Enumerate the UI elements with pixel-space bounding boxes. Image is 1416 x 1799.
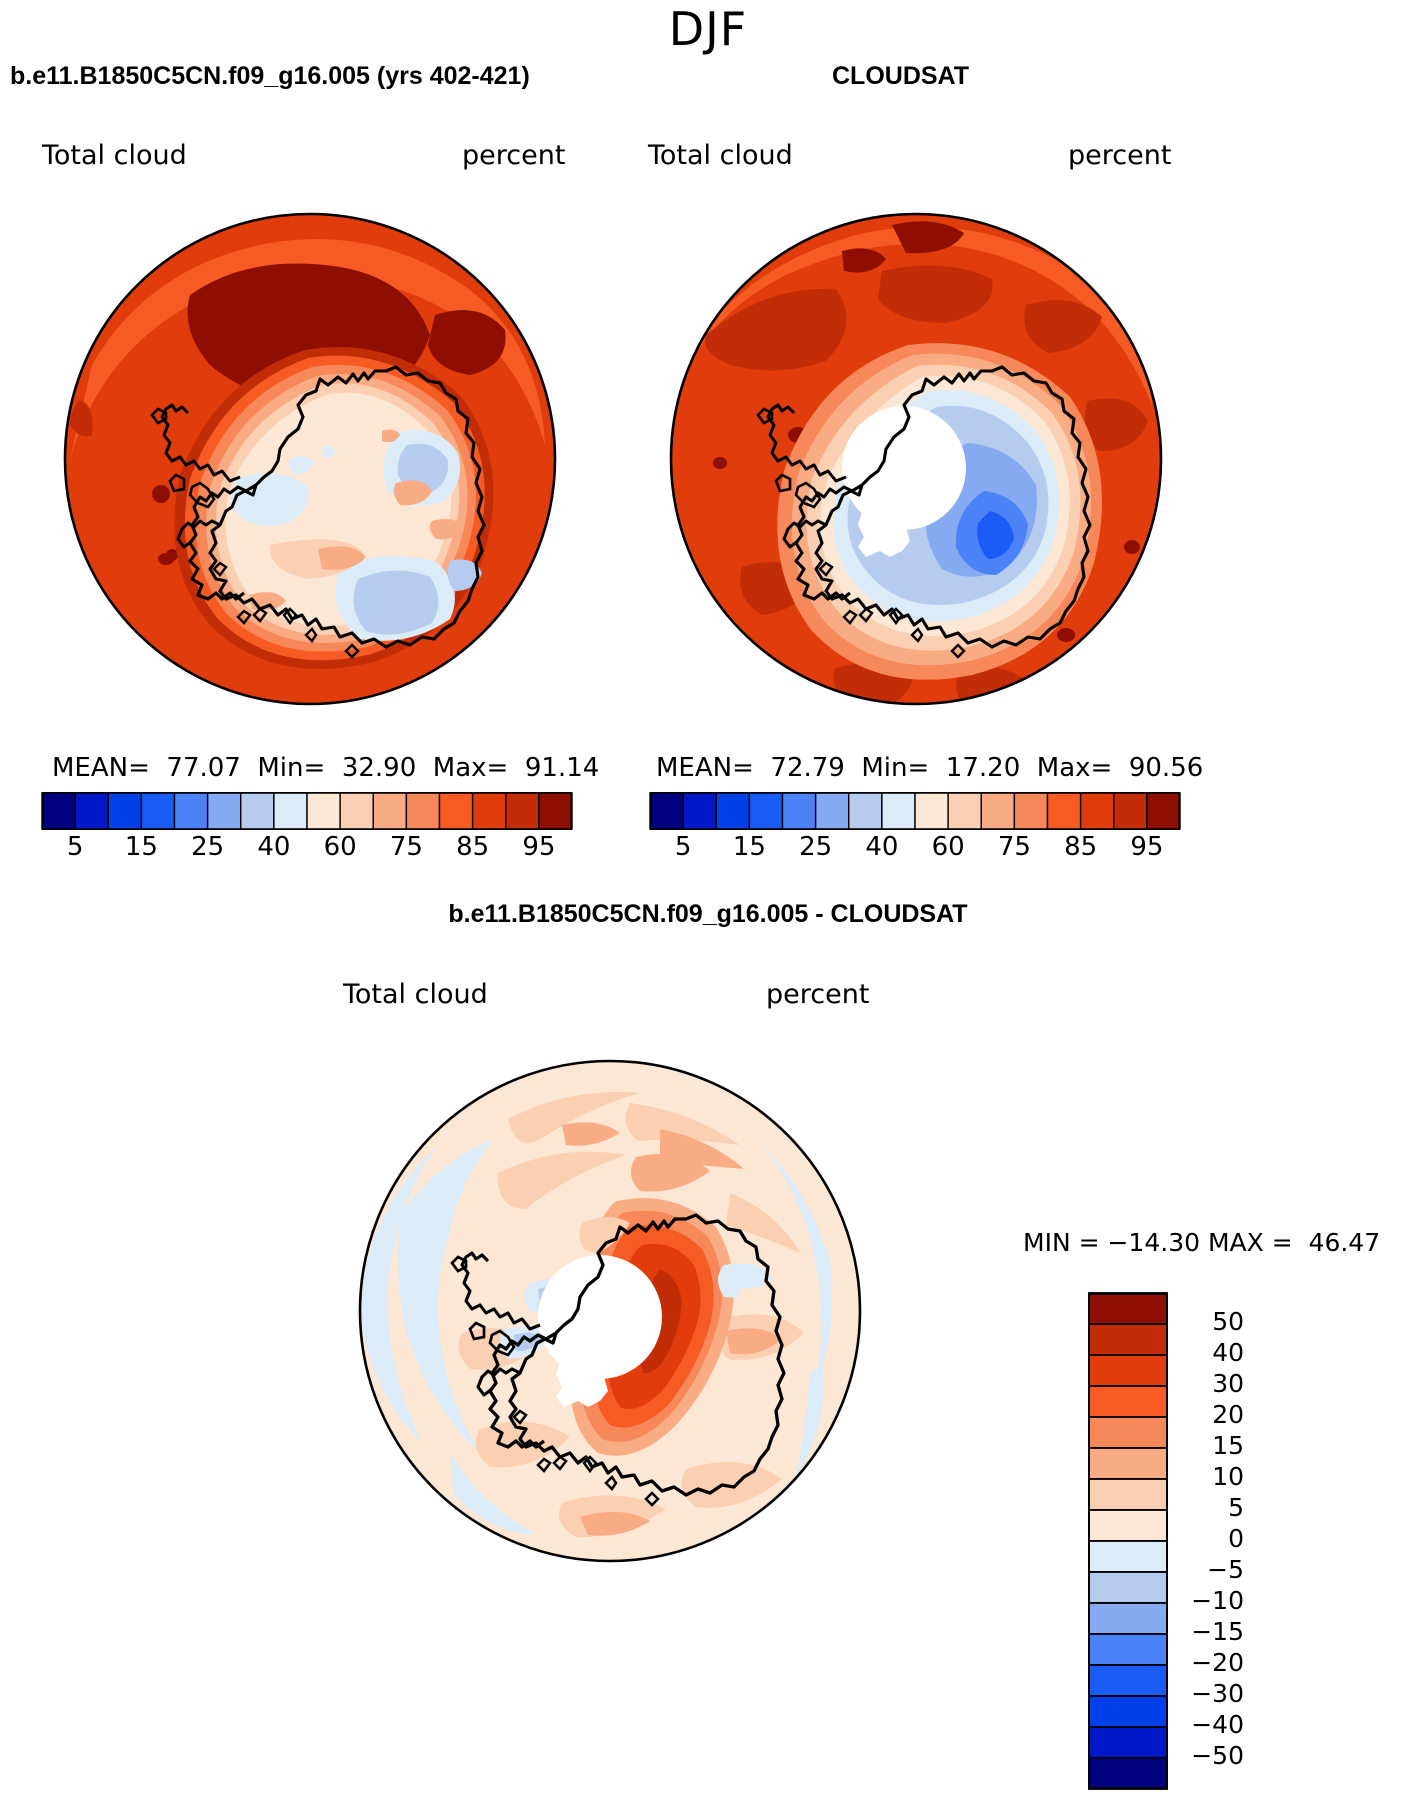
season-title: DJF: [0, 2, 1416, 56]
colorbar-tick-label: −5: [1172, 1555, 1244, 1584]
colorbar-tick-label: 5: [653, 832, 713, 862]
colorbar-cell: [108, 793, 141, 829]
colorbar-cell: [1048, 793, 1081, 829]
colorbar-cell: [340, 793, 373, 829]
colorbar-cell: [175, 793, 208, 829]
colorbar-cell: [1014, 793, 1047, 829]
obs-colorbar-ticks: 515254060758595: [650, 832, 1180, 868]
colorbar-cell: [42, 793, 75, 829]
colorbar-tick-label: 60: [918, 832, 978, 862]
colorbar-cell: [208, 793, 241, 829]
model-colorbar: [42, 792, 572, 830]
colorbar-cell: [1089, 1634, 1167, 1665]
colorbar-cell: [816, 793, 849, 829]
colorbar-cell: [783, 793, 816, 829]
colorbar-tick-label: 10: [1172, 1462, 1244, 1491]
colorbar-cell: [1089, 1727, 1167, 1758]
colorbar-tick-label: −30: [1172, 1679, 1244, 1708]
colorbar-cell: [1089, 1572, 1167, 1603]
colorbar-cell: [1089, 1603, 1167, 1634]
obs-units-label: percent: [1068, 140, 1171, 171]
model-colorbar-ticks: 515254060758595: [42, 832, 572, 868]
colorbar-cell: [307, 793, 340, 829]
colorbar-tick-label: 25: [178, 832, 238, 862]
colorbar-cell: [75, 793, 108, 829]
colorbar-tick-label: 95: [509, 832, 569, 862]
model-units-label: percent: [462, 140, 565, 171]
colorbar-cell: [882, 793, 915, 829]
colorbar-cell: [915, 793, 948, 829]
colorbar-cell: [1089, 1510, 1167, 1541]
obs-stats: MEAN= 72.79 Min= 17.20 Max= 90.56: [656, 753, 1203, 783]
colorbar-cell: [683, 793, 716, 829]
colorbar-tick-label: 75: [376, 832, 436, 862]
colorbar-tick-label: −40: [1172, 1710, 1244, 1739]
colorbar-cell: [1089, 1355, 1167, 1386]
diff-panel-title: b.e11.B1850C5CN.f09_g16.005 - CLOUDSAT: [0, 900, 1416, 929]
colorbar-cell: [1114, 793, 1147, 829]
diff-colorbar: [1088, 1293, 1168, 1789]
colorbar-cell: [1147, 793, 1180, 829]
colorbar-tick-label: −15: [1172, 1617, 1244, 1646]
colorbar-cell: [1089, 1386, 1167, 1417]
colorbar-tick-label: 25: [786, 832, 846, 862]
colorbar-tick-label: 95: [1117, 832, 1177, 862]
colorbar-tick-label: 0: [1172, 1524, 1244, 1553]
colorbar-cell: [1081, 793, 1114, 829]
colorbar-cell: [716, 793, 749, 829]
colorbar-tick-label: 85: [1051, 832, 1111, 862]
colorbar-cell: [1089, 1541, 1167, 1572]
colorbar-cell: [1089, 1417, 1167, 1448]
colorbar-cell: [141, 793, 174, 829]
obs-field-label: Total cloud: [648, 140, 793, 171]
model-map: [40, 195, 580, 735]
colorbar-tick-label: 15: [111, 832, 171, 862]
colorbar-cell: [274, 793, 307, 829]
obs-panel-title: CLOUDSAT: [832, 62, 969, 91]
colorbar-cell: [1089, 1324, 1167, 1355]
colorbar-cell: [1089, 1448, 1167, 1479]
colorbar-cell: [849, 793, 882, 829]
colorbar-tick-label: −20: [1172, 1648, 1244, 1677]
colorbar-tick-label: −10: [1172, 1586, 1244, 1615]
colorbar-cell: [948, 793, 981, 829]
diff-colorbar-svg: [1088, 1293, 1168, 1789]
colorbar-tick-label: 85: [443, 832, 503, 862]
colorbar-tick-label: 5: [1172, 1493, 1244, 1522]
model-panel-title: b.e11.B1850C5CN.f09_g16.005 (yrs 402-421…: [10, 62, 530, 91]
diff-minmax: MIN = −14.30 MAX = 46.47: [1023, 1228, 1380, 1257]
colorbar-cell: [1089, 1293, 1167, 1324]
colorbar-cell: [981, 793, 1014, 829]
colorbar-cell: [749, 793, 782, 829]
obs-map: [646, 195, 1186, 735]
colorbar-tick-label: −50: [1172, 1741, 1244, 1770]
colorbar-cell: [473, 793, 506, 829]
colorbar-cell: [1089, 1665, 1167, 1696]
colorbar-cell: [440, 793, 473, 829]
colorbar-cell: [241, 793, 274, 829]
colorbar-cell: [539, 793, 572, 829]
obs-colorbar: [650, 792, 1180, 830]
colorbar-tick-label: 5: [45, 832, 105, 862]
diff-map: [330, 1033, 890, 1593]
colorbar-cell: [373, 793, 406, 829]
colorbar-cell: [1089, 1758, 1167, 1789]
colorbar-tick-label: 60: [310, 832, 370, 862]
colorbar-tick-label: 15: [719, 832, 779, 862]
diff-units-label: percent: [766, 979, 869, 1010]
colorbar-cell: [406, 793, 439, 829]
colorbar-cell: [1089, 1696, 1167, 1727]
colorbar-cell: [506, 793, 539, 829]
colorbar-tick-label: 50: [1172, 1307, 1244, 1336]
colorbar-cell: [650, 793, 683, 829]
model-stats: MEAN= 77.07 Min= 32.90 Max= 91.14: [52, 753, 599, 783]
model-field-label: Total cloud: [42, 140, 187, 171]
colorbar-tick-label: 30: [1172, 1369, 1244, 1398]
colorbar-tick-label: 15: [1172, 1431, 1244, 1460]
colorbar-tick-label: 20: [1172, 1400, 1244, 1429]
diff-colorbar-ticks: 50403020151050−5−10−15−20−30−40−50: [1172, 1293, 1262, 1789]
colorbar-tick-label: 75: [984, 832, 1044, 862]
model-colorbar-svg: [42, 792, 572, 830]
colorbar-tick-label: 40: [852, 832, 912, 862]
colorbar-cell: [1089, 1479, 1167, 1510]
colorbar-tick-label: 40: [1172, 1338, 1244, 1367]
diff-field-label: Total cloud: [343, 979, 488, 1010]
colorbar-tick-label: 40: [244, 832, 304, 862]
obs-colorbar-svg: [650, 792, 1180, 830]
